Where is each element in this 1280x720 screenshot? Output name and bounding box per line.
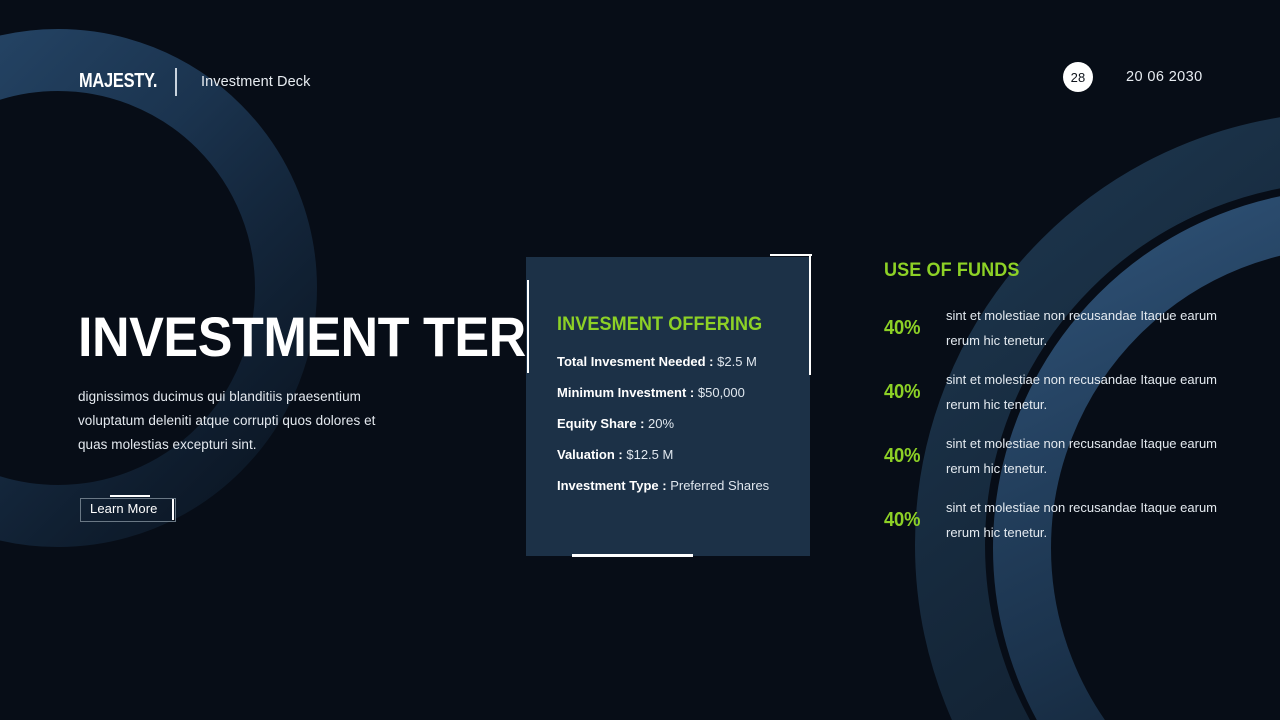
fund-item: 40% sint et molestiae non recusandae Ita… [884,432,1224,481]
card-row-value: $50,000 [698,385,745,400]
card-row-label: Total Invesment Needed : [557,354,714,369]
fund-percent: 40% [884,445,941,468]
card-rows: Total Invesment Needed : $2.5 M Minimum … [557,353,797,494]
deck-label: Investment Deck [201,74,311,90]
brand-logo[interactable]: MAJESTY. [79,71,157,91]
learn-more-label[interactable]: Learn More [90,501,157,516]
fund-description: sint et molestiae non recusandae Itaque … [946,368,1224,417]
card-row-label: Minimum Investment : [557,385,694,400]
fund-percent: 40% [884,509,941,532]
use-of-funds-title: USE OF FUNDS [884,260,1207,282]
card-row-label: Equity Share : [557,416,644,431]
lead-paragraph: dignissimos ducimus qui blanditiis praes… [78,385,400,457]
fund-item: 40% sint et molestiae non recusandae Ita… [884,496,1224,545]
card-row: Investment Type : Preferred Shares [557,477,797,494]
page-title: INVESTMENT TERMS [78,310,450,365]
learn-more-top-accent [110,495,150,497]
fund-percent: 40% [884,317,941,340]
card-row-value: $2.5 M [717,354,757,369]
card-row: Total Invesment Needed : $2.5 M [557,353,797,370]
header-divider [175,68,177,96]
card-corner-right-accent [809,254,811,375]
investment-offering-card: INVESMENT OFFERING Total Invesment Neede… [526,257,810,556]
card-row: Valuation : $12.5 M [557,446,797,463]
fund-description: sint et molestiae non recusandae Itaque … [946,304,1224,353]
use-of-funds-section: USE OF FUNDS 40% sint et molestiae non r… [884,260,1224,560]
card-row-value: 20% [648,416,674,431]
left-column: INVESTMENT TERMS dignissimos ducimus qui… [78,310,478,457]
card-left-accent [527,280,529,373]
fund-percent: 40% [884,381,941,404]
card-title: INVESMENT OFFERING [557,314,762,336]
card-bottom-accent [572,554,693,557]
card-row-label: Valuation : [557,447,623,462]
card-row-label: Investment Type : [557,478,667,493]
fund-item: 40% sint et molestiae non recusandae Ita… [884,304,1224,353]
learn-more-right-accent [172,499,174,520]
slide-date: 20 06 2030 [1126,69,1203,85]
learn-more-button[interactable]: Learn More [78,488,198,528]
card-corner-top-accent [770,254,812,256]
card-row-value: Preferred Shares [670,478,769,493]
card-row-value: $12.5 M [626,447,673,462]
slide-header: MAJESTY. Investment Deck 28 20 06 2030 [0,0,1280,150]
fund-item: 40% sint et molestiae non recusandae Ita… [884,368,1224,417]
slide-root: MAJESTY. Investment Deck 28 20 06 2030 I… [0,0,1280,720]
fund-description: sint et molestiae non recusandae Itaque … [946,432,1224,481]
fund-description: sint et molestiae non recusandae Itaque … [946,496,1224,545]
page-number-badge: 28 [1063,62,1093,92]
card-row: Minimum Investment : $50,000 [557,384,797,401]
card-row: Equity Share : 20% [557,415,797,432]
